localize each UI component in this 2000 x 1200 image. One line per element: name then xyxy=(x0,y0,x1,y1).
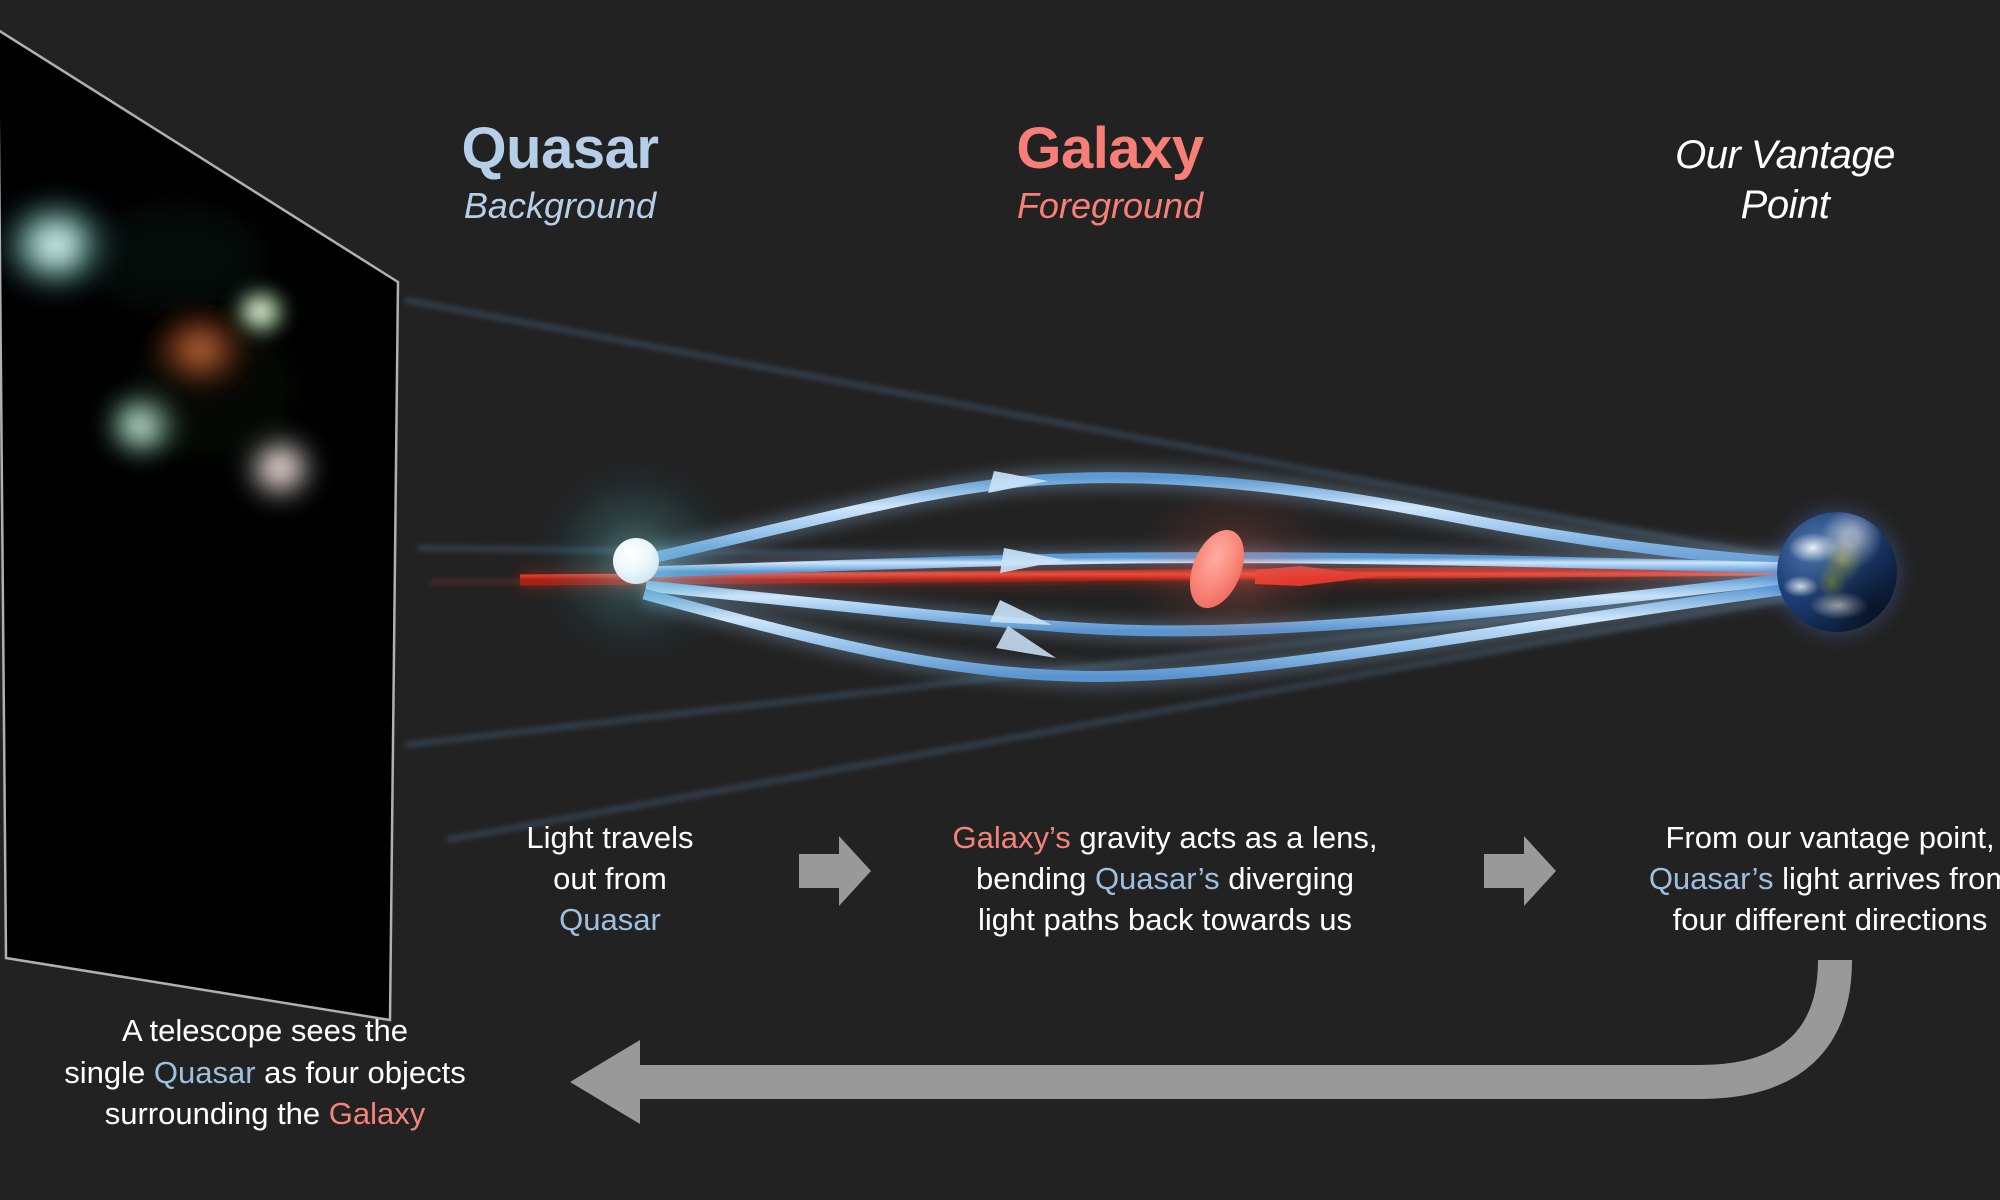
arrow-right-icon xyxy=(1480,832,1560,910)
caption-bottom-part1: A telescope sees the xyxy=(122,1013,408,1048)
caption-step-3: From our vantage point, Quasar’s light a… xyxy=(1590,818,2000,941)
caption-bottom-galaxy: Galaxy xyxy=(329,1096,425,1131)
heading-quasar: Quasar Background xyxy=(400,120,720,224)
caption-2-part1: gravity acts as a lens, xyxy=(1071,820,1378,855)
caption-3-part3: four different directions xyxy=(1673,902,1988,937)
caption-bottom-part3: as four objects xyxy=(256,1055,466,1090)
caption-2-part3: diverging xyxy=(1220,861,1354,896)
caption-step-1: Light travels out from Quasar xyxy=(500,818,720,941)
caption-bottom-quasar: Quasar xyxy=(154,1055,256,1090)
heading-galaxy-subtitle: Foreground xyxy=(950,188,1270,224)
earth-globe-icon xyxy=(1777,512,1897,632)
return-arrow xyxy=(570,960,1835,1124)
lensing-diagram: Quasar Background Galaxy Foreground Our … xyxy=(0,0,2000,1200)
caption-bottom-part4: surrounding the xyxy=(105,1096,329,1131)
caption-telescope-result: A telescope sees the single Quasar as fo… xyxy=(35,1010,495,1135)
heading-galaxy-title: Galaxy xyxy=(950,120,1270,178)
caption-2-quasar: Quasar’s xyxy=(1095,861,1220,896)
heading-vantage: Our Vantage Point xyxy=(1620,130,1950,230)
heading-quasar-subtitle: Background xyxy=(400,188,720,224)
caption-1-line1: Light travels xyxy=(526,820,693,855)
caption-1-line2: out from xyxy=(553,861,667,896)
telescope-observation-panel xyxy=(0,20,440,1030)
heading-galaxy: Galaxy Foreground xyxy=(950,120,1270,224)
caption-2-part4: light paths back towards us xyxy=(978,902,1352,937)
quasar-sphere-icon xyxy=(613,538,659,584)
caption-1-quasar: Quasar xyxy=(559,902,661,937)
caption-bottom-part2: single xyxy=(64,1055,154,1090)
heading-vantage-line2: Point xyxy=(1620,180,1950,230)
caption-3-part2: light arrives from xyxy=(1773,861,2000,896)
caption-2-galaxy: Galaxy’s xyxy=(953,820,1071,855)
caption-3-part1: From our vantage point, xyxy=(1665,820,1994,855)
arrow-right-icon xyxy=(795,832,875,910)
caption-3-quasar: Quasar’s xyxy=(1649,861,1774,896)
heading-quasar-title: Quasar xyxy=(400,120,720,178)
heading-vantage-line1: Our Vantage xyxy=(1620,130,1950,180)
earth-shading xyxy=(1777,512,1897,632)
caption-step-2: Galaxy’s gravity acts as a lens, bending… xyxy=(925,818,1405,941)
caption-2-part2: bending xyxy=(976,861,1095,896)
